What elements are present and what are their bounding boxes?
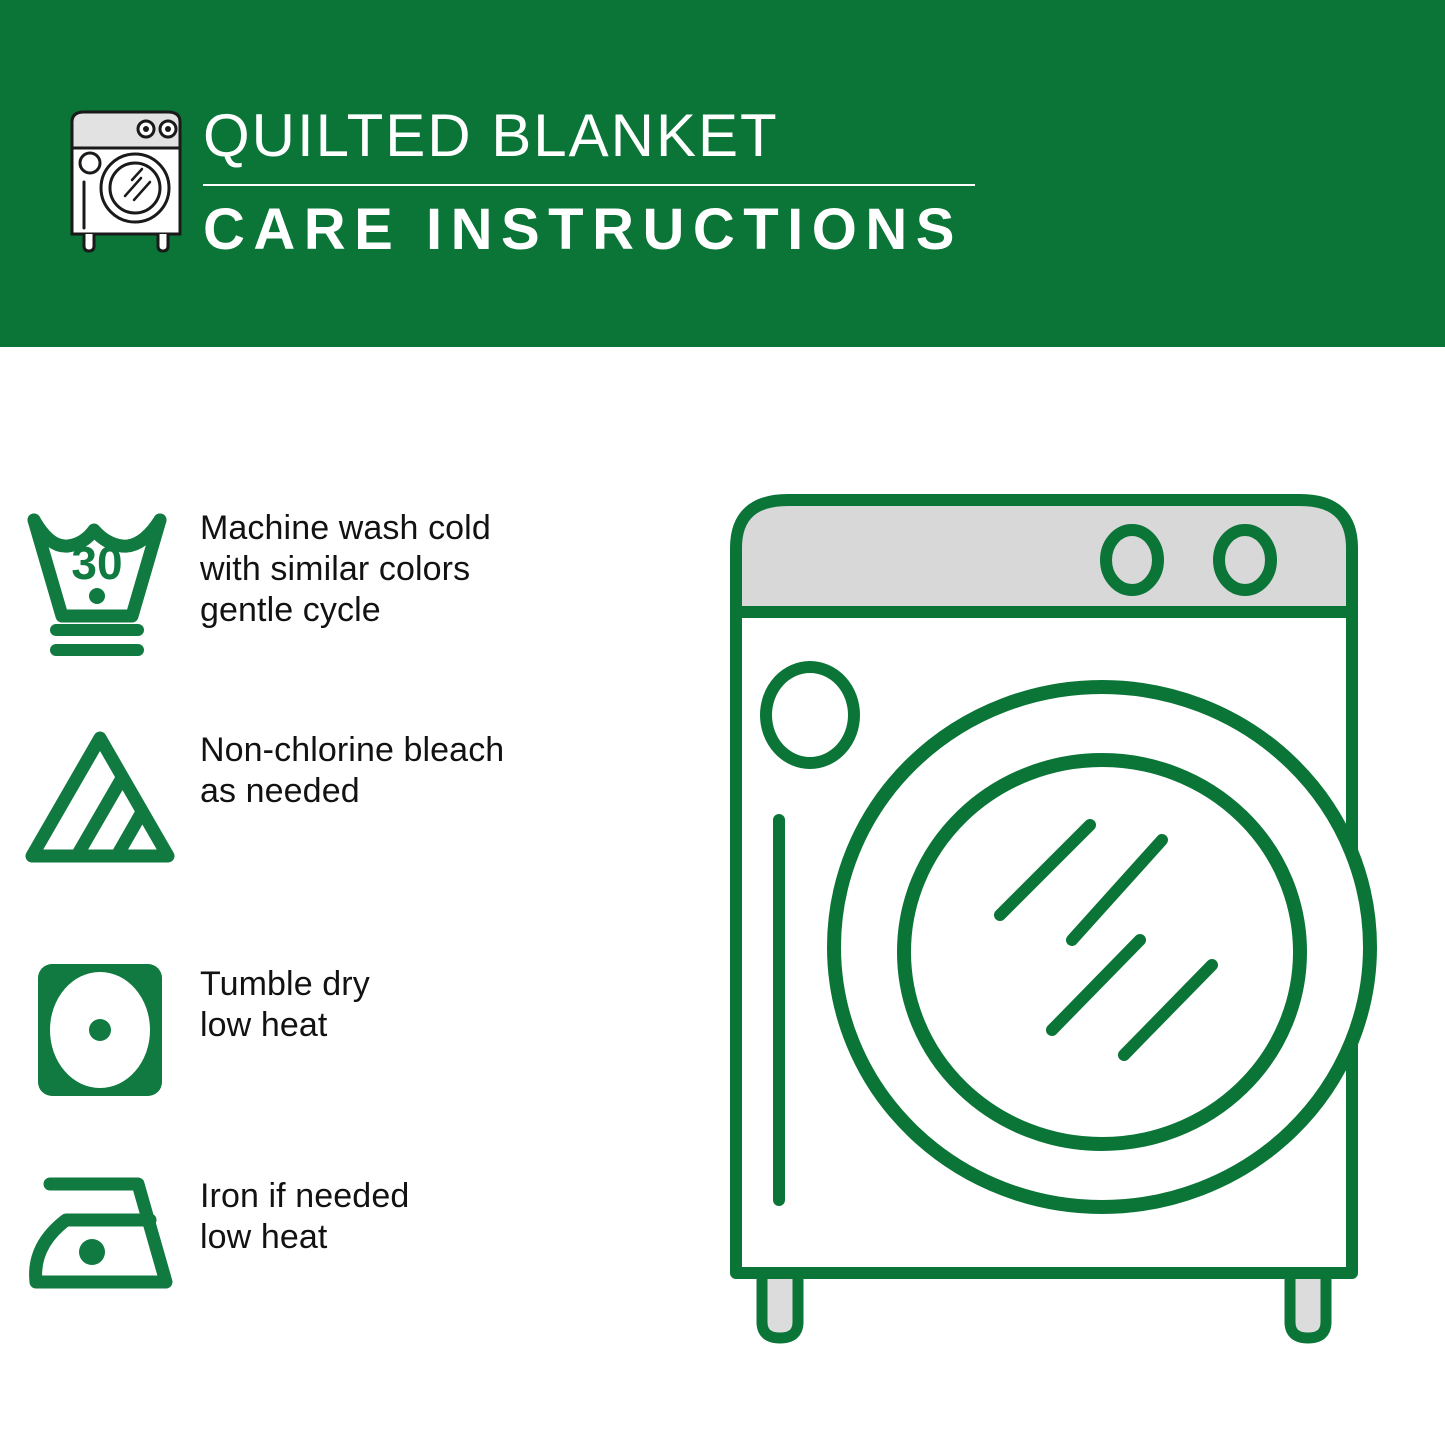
page-subtitle: CARE INSTRUCTIONS	[203, 196, 993, 264]
washing-machine-icon	[62, 104, 190, 254]
wash-dot-icon	[89, 588, 105, 604]
care-text-line: low heat	[200, 1005, 370, 1046]
iron-low-heat-icon	[20, 1172, 180, 1302]
machine-detergent-port	[766, 667, 854, 763]
care-item-tumble-dry: Tumble dry low heat	[0, 960, 690, 1100]
machine-door-inner-ring[interactable]	[904, 760, 1300, 1144]
washing-machine-illustration	[700, 460, 1420, 1360]
care-instructions-page: QUILTED BLANKET CARE INSTRUCTIONS 30 Mac	[0, 0, 1445, 1445]
care-text-line: as needed	[200, 771, 504, 812]
care-icon-wrap: 30	[0, 504, 200, 656]
care-item-bleach: Non-chlorine bleach as needed	[0, 726, 690, 866]
machine-leg-right	[1290, 1273, 1326, 1338]
wash-tub-30-gentle-icon: 30	[20, 504, 180, 656]
page-title: QUILTED BLANKET	[203, 100, 993, 172]
title-divider	[203, 184, 975, 186]
care-text-line: gentle cycle	[200, 590, 491, 631]
care-text-bleach: Non-chlorine bleach as needed	[200, 726, 504, 812]
care-icon-wrap	[0, 1172, 200, 1302]
care-text-line: Machine wash cold	[200, 508, 491, 549]
care-text-line: Tumble dry	[200, 964, 370, 1005]
header-banner: QUILTED BLANKET CARE INSTRUCTIONS	[0, 0, 1445, 347]
machine-knob-2[interactable]	[1219, 530, 1271, 590]
care-icon-wrap	[0, 726, 200, 866]
care-text-line: Non-chlorine bleach	[200, 730, 504, 771]
care-text-line: low heat	[200, 1217, 409, 1258]
care-text-line: Iron if needed	[200, 1176, 409, 1217]
triangle-non-chlorine-bleach-icon	[22, 726, 178, 866]
care-text-machine-wash: Machine wash cold with similar colors ge…	[200, 504, 491, 631]
care-item-machine-wash: 30 Machine wash cold with similar colors…	[0, 504, 690, 656]
header-text-block: QUILTED BLANKET CARE INSTRUCTIONS	[203, 100, 993, 264]
care-text-iron: Iron if needed low heat	[200, 1172, 409, 1258]
iron-heat-dot-icon	[79, 1239, 105, 1265]
care-text-tumble-dry: Tumble dry low heat	[200, 960, 370, 1046]
care-text-line: with similar colors	[200, 549, 491, 590]
care-item-iron: Iron if needed low heat	[0, 1172, 690, 1302]
care-icon-wrap	[0, 960, 200, 1100]
tumble-dry-low-heat-icon	[34, 960, 166, 1100]
machine-knob-1[interactable]	[1106, 530, 1158, 590]
machine-leg-left	[762, 1273, 798, 1338]
wash-temperature-value: 30	[71, 537, 122, 589]
